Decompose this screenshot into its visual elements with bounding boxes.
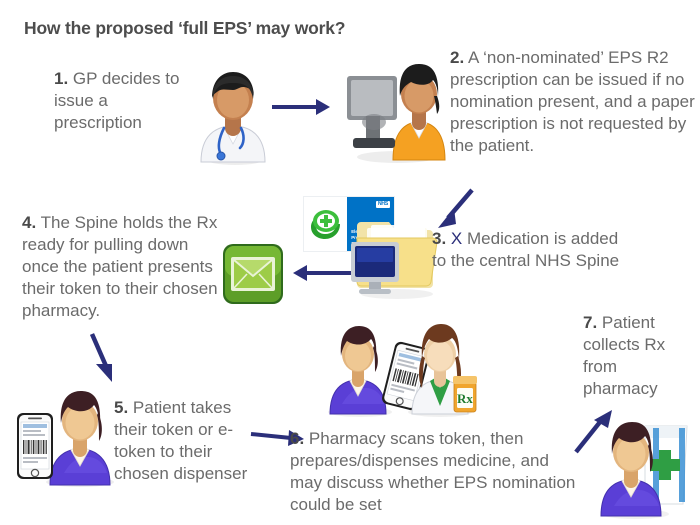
step-2-text: 2. A ‘non-nominated’ EPS R2 prescription… xyxy=(450,47,698,157)
patient-with-phone-icon xyxy=(14,383,122,489)
step-3-number: 3. xyxy=(432,229,446,248)
diagram-canvas: How the proposed ‘full EPS’ may work? 1.… xyxy=(0,0,700,525)
step-4-number: 4. xyxy=(22,213,36,232)
rx-label: Rx xyxy=(457,391,473,406)
doctor-with-stethoscope-icon xyxy=(191,66,275,166)
step-1-body: GP decides to issue a prescription xyxy=(54,69,179,132)
person-at-computer-icon xyxy=(341,52,449,164)
arrow-step1-to-step2 xyxy=(270,96,332,118)
step-5-body: Patient takes their token or e-token to … xyxy=(114,398,247,483)
patient-phone-pharmacist-icon: Rx xyxy=(302,308,482,420)
nhs-spine-folder-icon xyxy=(345,208,445,300)
step-3-text: 3. X Medication is added to the central … xyxy=(432,228,632,272)
patient-with-pharmacy-bag-icon xyxy=(583,408,697,520)
arrow-step4-to-step5 xyxy=(86,330,120,386)
step-3-x-symbol: X xyxy=(451,229,462,248)
step-2-number: 2. xyxy=(450,48,464,67)
green-envelope-icon xyxy=(222,243,284,305)
step-7-number: 7. xyxy=(583,313,597,332)
arrow-step3-to-step4 xyxy=(291,262,353,284)
step-5-text: 5. Patient takes their token or e-token … xyxy=(114,397,254,485)
step-6-number: 6. xyxy=(290,429,304,448)
step-6-text: 6. Pharmacy scans token, then prepares/d… xyxy=(290,428,580,516)
step-2-body: A ‘non-nominated’ EPS R2 prescription ca… xyxy=(450,48,695,155)
page-title: How the proposed ‘full EPS’ may work? xyxy=(24,18,345,39)
step-1-text: 1. GP decides to issue a prescription xyxy=(54,68,199,134)
nhs-badge: NHS xyxy=(376,201,390,208)
step-4-text: 4. The Spine holds the Rx ready for pull… xyxy=(22,212,220,322)
step-7-text: 7. Patient collects Rx from pharmacy xyxy=(583,312,695,400)
step-1-number: 1. xyxy=(54,69,68,88)
step-5-number: 5. xyxy=(114,398,128,417)
eps-green-swirl-icon xyxy=(304,197,347,251)
step-6-body: Pharmacy scans token, then prepares/disp… xyxy=(290,429,575,514)
step-4-body: The Spine holds the Rx ready for pulling… xyxy=(22,213,218,320)
